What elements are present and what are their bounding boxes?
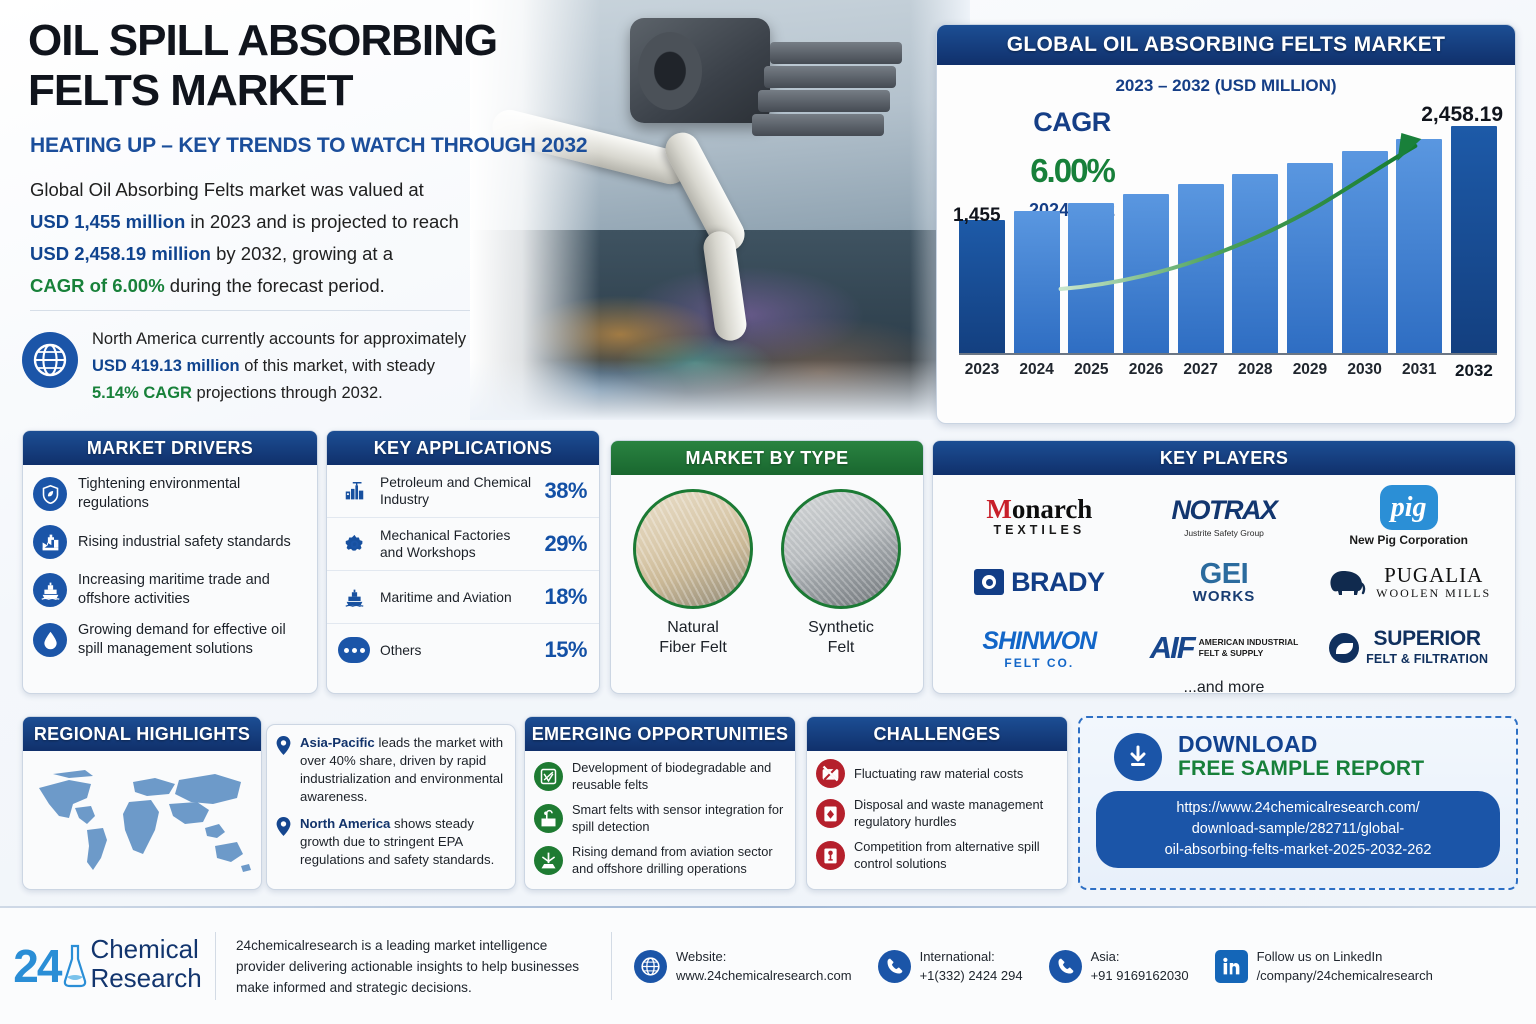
chart-bar-column [1232, 113, 1278, 355]
shinwon-sub: FELT CO. [1004, 656, 1074, 670]
regional-highlights-card: REGIONAL HIGHLIGHTS [22, 716, 262, 890]
shield-leaf-icon [33, 477, 67, 511]
chart-bar [1287, 163, 1333, 355]
chart-bar [1396, 139, 1442, 355]
intro-line4: during the forecast period. [165, 275, 385, 296]
chart-bar-column [959, 113, 1005, 355]
key-application-row: Petroleum and Chemical Industry38% [327, 465, 599, 518]
chart-x-tick: 2027 [1178, 361, 1224, 381]
key-application-name: Mechanical Factories and Workshops [380, 527, 535, 561]
challenge-text: Disposal and waste management regulatory… [854, 796, 1059, 830]
page-title: OIL SPILL ABSORBING FELTS MARKET [28, 16, 558, 116]
opportunity-item: Rising demand from aviation sector and o… [534, 843, 787, 877]
chart-bar [1232, 174, 1278, 355]
pig-mark: pig [1380, 485, 1438, 530]
chart-x-tick: 2026 [1123, 361, 1169, 381]
player-logo-pugalia: PUGALIA WOOLEN MILLS [1326, 551, 1491, 613]
emerging-opportunities-caption: EMERGING OPPORTUNITIES [525, 717, 795, 751]
company-blurb: 24chemicalresearch is a leading market i… [216, 935, 611, 998]
map-pin-icon [276, 817, 292, 869]
regional-text-card: Asia-Pacific leads the market with over … [266, 724, 516, 890]
ship-icon [33, 573, 67, 607]
elephant-icon [1326, 567, 1368, 597]
footer-contact-value: www.24chemicalresearch.com [676, 968, 852, 983]
natural-fiber-felt-label: Natural Fiber Felt [633, 618, 753, 658]
na-cagr: 5.14% CAGR [92, 384, 192, 402]
chart-last-value-label: 2,458.19 [1421, 103, 1503, 127]
page-subtitle: HEATING UP – KEY TRENDS TO WATCH THROUGH… [30, 134, 600, 158]
key-application-row: Others15% [327, 624, 599, 676]
footer-contact-label: Website: [676, 949, 726, 964]
pig-wordmark: pig [1391, 494, 1427, 522]
na-line2: of this market, with steady [240, 357, 435, 375]
intro-line1: Global Oil Absorbing Felts market was va… [30, 179, 424, 200]
logo-word-research: Research [90, 963, 201, 993]
challenges-list: Fluctuating raw material costsDisposal a… [807, 751, 1067, 872]
player-logo-superior: SUPERIOR FELT & FILTRATION [1329, 617, 1488, 679]
opportunity-item: Development of biodegradable and reusabl… [534, 759, 787, 793]
brady-wordmark: BRADY [1011, 567, 1105, 598]
market-driver-item: Growing demand for effective oil spill m… [33, 621, 307, 659]
footer-contact-value: +91 9169162030 [1091, 968, 1189, 983]
download-url-line3: oil-absorbing-felts-market-2025-2032-262 [1165, 842, 1432, 858]
chart-bar [1123, 194, 1169, 355]
footer-contact-item[interactable]: Follow us on LinkedIn/company/24chemical… [1215, 947, 1433, 985]
footer-contact-value: +1(332) 2424 294 [920, 968, 1023, 983]
intro-value-2032: USD 2,458.19 million [30, 243, 211, 264]
download-subtitle: FREE SAMPLE REPORT [1178, 757, 1424, 781]
infographic-page: OIL SPILL ABSORBING FELTS MARKET HEATING… [0, 0, 1536, 1024]
intro-value-2023: USD 1,455 million [30, 211, 185, 232]
key-application-percent: 38% [544, 478, 587, 504]
synthetic-felt-image [781, 489, 901, 609]
superior-sub: FELT & FILTRATION [1366, 652, 1488, 666]
emerging-opportunities-card: EMERGING OPPORTUNITIES Development of bi… [524, 716, 796, 890]
chart-subtitle: 2023 – 2032 (USD MILLION) [937, 76, 1515, 96]
regional-highlight-text: North America shows steady growth due to… [300, 815, 505, 869]
monarch-sub: TEXTILES [993, 523, 1085, 537]
chart-bar [959, 220, 1005, 355]
market-driver-text: Rising industrial safety standards [78, 533, 291, 552]
key-players-and-more: ...and more [1184, 679, 1265, 697]
chart-bar [1014, 211, 1060, 355]
chart-x-tick: 2024 [1014, 361, 1060, 381]
recycle-felt-icon [534, 762, 563, 791]
chart-bar-column [1396, 113, 1442, 355]
download-url-line2: download-sample/282711/global- [1192, 821, 1405, 837]
download-icon [1114, 733, 1162, 781]
factory-icon [33, 525, 67, 559]
chart-bar-column [1451, 113, 1497, 355]
challenges-card: CHALLENGES Fluctuating raw material cost… [806, 716, 1068, 890]
type-item-natural: Natural Fiber Felt [633, 489, 753, 658]
aif-sub-line1: AMERICAN INDUSTRIAL [1199, 637, 1299, 647]
company-logo: 24 Chemical Research [0, 937, 215, 995]
na-line1: North America currently accounts for app… [92, 330, 466, 348]
waste-disposal-icon [816, 799, 845, 828]
logo-word-chemical: Chemical [90, 934, 198, 964]
superior-wordmark: SUPERIOR [1374, 627, 1481, 650]
chart-bar-column [1068, 113, 1114, 355]
chart-x-labels: 2023202420252026202720282029203020312032 [951, 361, 1505, 381]
brady-mark-icon [974, 569, 1004, 595]
player-logo-brady: BRADY [974, 551, 1105, 613]
linkedin-icon [1215, 950, 1248, 983]
ship-icon [337, 580, 371, 614]
north-america-text: North America currently accounts for app… [92, 322, 466, 407]
key-players-grid: Monarch TEXTILES NOTRAX Justrite Safety … [933, 475, 1515, 697]
market-driver-item: Tightening environmental regulations [33, 475, 307, 513]
key-application-percent: 29% [544, 531, 587, 557]
pugalia-wordmark: PUGALIA [1376, 564, 1491, 586]
regional-highlight-item: Asia-Pacific leads the market with over … [267, 725, 515, 806]
regional-highlight-text: Asia-Pacific leads the market with over … [300, 734, 505, 806]
gei-sub: WORKS [1193, 588, 1256, 605]
footer-contact-item[interactable]: Asia:+91 9169162030 [1049, 947, 1189, 985]
key-application-percent: 15% [544, 637, 587, 663]
download-url-line1: https://www.24chemicalresearch.com/ [1176, 800, 1419, 816]
aif-sub-line2: FELT & SUPPLY [1199, 648, 1264, 658]
natural-fiber-felt-image [633, 489, 753, 609]
water-drop-icon [33, 623, 67, 657]
monarch-rest: onarch [1012, 494, 1093, 524]
key-application-name: Maritime and Aviation [380, 589, 535, 606]
chart-bar-column [1123, 113, 1169, 355]
market-driver-text: Growing demand for effective oil spill m… [78, 621, 307, 659]
chart-bar-column [1342, 113, 1388, 355]
key-applications-list: Petroleum and Chemical Industry38%Mechan… [327, 465, 599, 676]
chart-first-value-label: 1,455 [953, 205, 1001, 227]
player-logo-new-pig: pig New Pig Corporation [1349, 485, 1468, 547]
footer-contact-label: Asia: [1091, 949, 1120, 964]
section-divider [30, 310, 470, 311]
footer-contacts: Website:www.24chemicalresearch.comIntern… [612, 947, 1433, 985]
challenge-text: Fluctuating raw material costs [854, 765, 1023, 782]
synthetic-label-line1: Synthetic [808, 619, 874, 636]
map-pin-icon [276, 817, 291, 836]
footer: 24 Chemical Research 24chemicalresearch … [0, 908, 1536, 1024]
chart-bar [1178, 184, 1224, 355]
refinery-icon [337, 474, 371, 508]
north-america-block: North America currently accounts for app… [22, 322, 502, 407]
chart-bar [1342, 151, 1388, 355]
hero-fade-bottom [470, 360, 970, 420]
gear-icon [337, 527, 371, 561]
footer-contact-item[interactable]: Website:www.24chemicalresearch.com [634, 947, 852, 985]
challenge-text: Competition from alternative spill contr… [854, 838, 1059, 872]
challenges-caption: CHALLENGES [807, 717, 1067, 751]
phone-icon [1049, 950, 1082, 983]
key-applications-caption: KEY APPLICATIONS [327, 431, 599, 465]
logo-wordmark: Chemical Research [90, 937, 201, 995]
challenge-item: Competition from alternative spill contr… [816, 838, 1059, 872]
chart-bar [1451, 126, 1497, 355]
natural-label-line1: Natural [667, 619, 719, 636]
monarch-initial: M [986, 494, 1011, 524]
download-title: DOWNLOAD [1178, 732, 1424, 757]
intro-line2: in 2023 and is projected to reach [185, 211, 459, 232]
market-forecast-chart: GLOBAL OIL ABSORBING FELTS MARKET 2023 –… [936, 24, 1516, 424]
player-logo-gei-works: GEI WORKS [1193, 551, 1256, 613]
player-logo-notrax: NOTRAX Justrite Safety Group [1171, 485, 1276, 547]
aif-wordmark: AIF [1150, 630, 1194, 666]
type-item-synthetic: Synthetic Felt [781, 489, 901, 658]
market-by-type-caption: MARKET BY TYPE [611, 441, 923, 475]
chart-x-tick: 2031 [1396, 361, 1442, 381]
phone-icon [878, 950, 911, 983]
chart-x-tick: 2030 [1342, 361, 1388, 381]
market-drivers-card: MARKET DRIVERS Tightening environmental … [22, 430, 318, 694]
monarch-wordmark: Monarch [986, 495, 1092, 523]
key-application-percent: 18% [544, 584, 587, 610]
regional-items-list: Asia-Pacific leads the market with over … [267, 725, 515, 869]
opportunity-text: Smart felts with sensor integration for … [572, 801, 787, 835]
cost-volatility-icon [816, 759, 845, 788]
globe-icon [22, 332, 78, 388]
market-driver-item: Rising industrial safety standards [33, 525, 307, 559]
pugalia-sub: WOOLEN MILLS [1376, 586, 1491, 601]
superior-mark-icon [1329, 633, 1359, 663]
ellipsis-icon [337, 633, 371, 667]
chart-x-tick: 2029 [1287, 361, 1333, 381]
download-sample-panel[interactable]: DOWNLOAD FREE SAMPLE REPORT https://www.… [1078, 716, 1518, 890]
opportunity-text: Development of biodegradable and reusabl… [572, 759, 787, 793]
na-value: USD 419.13 million [92, 357, 240, 375]
market-drivers-list: Tightening environmental regulationsRisi… [23, 465, 317, 659]
map-pin-icon [276, 736, 292, 806]
market-drivers-caption: MARKET DRIVERS [23, 431, 317, 465]
world-map [23, 751, 261, 887]
download-header: DOWNLOAD FREE SAMPLE REPORT [1080, 718, 1516, 781]
chart-bar [1068, 203, 1114, 355]
chart-x-tick: 2023 [959, 361, 1005, 381]
synthetic-label-line2: Felt [828, 639, 855, 656]
chart-x-tick: 2028 [1232, 361, 1278, 381]
chart-title: GLOBAL OIL ABSORBING FELTS MARKET [937, 25, 1515, 65]
world-map-icon [29, 758, 255, 882]
notrax-wordmark: NOTRAX [1171, 495, 1276, 526]
regional-highlights-caption: REGIONAL HIGHLIGHTS [23, 717, 261, 751]
intro-line3: by 2032, growing at a [211, 243, 393, 264]
market-by-type-card: MARKET BY TYPE Natural Fiber Felt Synthe… [610, 440, 924, 694]
key-application-row: Mechanical Factories and Workshops29% [327, 518, 599, 571]
gei-wordmark: GEI [1200, 560, 1248, 588]
logo-number: 24 [13, 943, 60, 989]
globe-icon [634, 950, 667, 983]
chart-x-tick: 2025 [1068, 361, 1114, 381]
regional-highlight-item: North America shows steady growth due to… [267, 806, 515, 869]
intro-cagr: CAGR of 6.00% [30, 275, 165, 296]
opportunity-item: Smart felts with sensor integration for … [534, 801, 787, 835]
footer-contact-item[interactable]: International:+1(332) 2424 294 [878, 947, 1023, 985]
na-line3: projections through 2032. [192, 384, 383, 402]
natural-label-line2: Fiber Felt [659, 639, 727, 656]
intro-paragraph: Global Oil Absorbing Felts market was va… [30, 174, 530, 302]
chart-axis-line [959, 353, 1497, 355]
chart-bars [951, 113, 1505, 355]
footer-contact-label: International: [920, 949, 995, 964]
market-driver-item: Increasing maritime trade and offshore a… [33, 571, 307, 609]
chart-bar-column [1014, 113, 1060, 355]
chart-bar-column [1178, 113, 1224, 355]
opportunity-text: Rising demand from aviation sector and o… [572, 843, 787, 877]
competition-icon [816, 841, 845, 870]
map-pin-icon [276, 736, 291, 755]
sensor-felt-icon [534, 804, 563, 833]
key-application-name: Others [380, 642, 535, 659]
chart-bar-column [1287, 113, 1333, 355]
player-logo-shinwon: SHINWON FELT CO. [982, 617, 1096, 679]
market-driver-text: Tightening environmental regulations [78, 475, 307, 513]
aviation-drill-icon [534, 846, 563, 875]
key-applications-card: KEY APPLICATIONS Petroleum and Chemical … [326, 430, 600, 694]
challenge-item: Fluctuating raw material costs [816, 759, 1059, 788]
flask-icon [62, 943, 88, 989]
synthetic-felt-label: Synthetic Felt [781, 618, 901, 658]
chart-x-tick: 2032 [1451, 361, 1497, 381]
market-driver-text: Increasing maritime trade and offshore a… [78, 571, 307, 609]
download-url-button[interactable]: https://www.24chemicalresearch.com/ down… [1096, 791, 1500, 868]
key-players-caption: KEY PLAYERS [933, 441, 1515, 475]
key-application-name: Petroleum and Chemical Industry [380, 474, 535, 508]
player-logo-monarch: Monarch TEXTILES [986, 485, 1092, 547]
notrax-sub: Justrite Safety Group [1184, 528, 1264, 538]
chart-plot-area: 2023202420252026202720282029203020312032 [951, 113, 1505, 381]
footer-contact-label: Follow us on LinkedIn [1257, 949, 1383, 964]
challenge-item: Disposal and waste management regulatory… [816, 796, 1059, 830]
key-players-card: KEY PLAYERS Monarch TEXTILES NOTRAX Just… [932, 440, 1516, 694]
market-by-type-items: Natural Fiber Felt Synthetic Felt [611, 475, 923, 658]
emerging-opportunities-list: Development of biodegradable and reusabl… [525, 751, 795, 877]
shinwon-wordmark: SHINWON [982, 627, 1096, 656]
key-application-row: Maritime and Aviation18% [327, 571, 599, 624]
felt-roll-image [630, 18, 770, 123]
player-logo-aif: AIF AMERICAN INDUSTRIAL FELT & SUPPLY [1150, 617, 1299, 679]
pig-sub: New Pig Corporation [1349, 533, 1468, 547]
footer-contact-value: /company/24chemicalresearch [1257, 968, 1433, 983]
